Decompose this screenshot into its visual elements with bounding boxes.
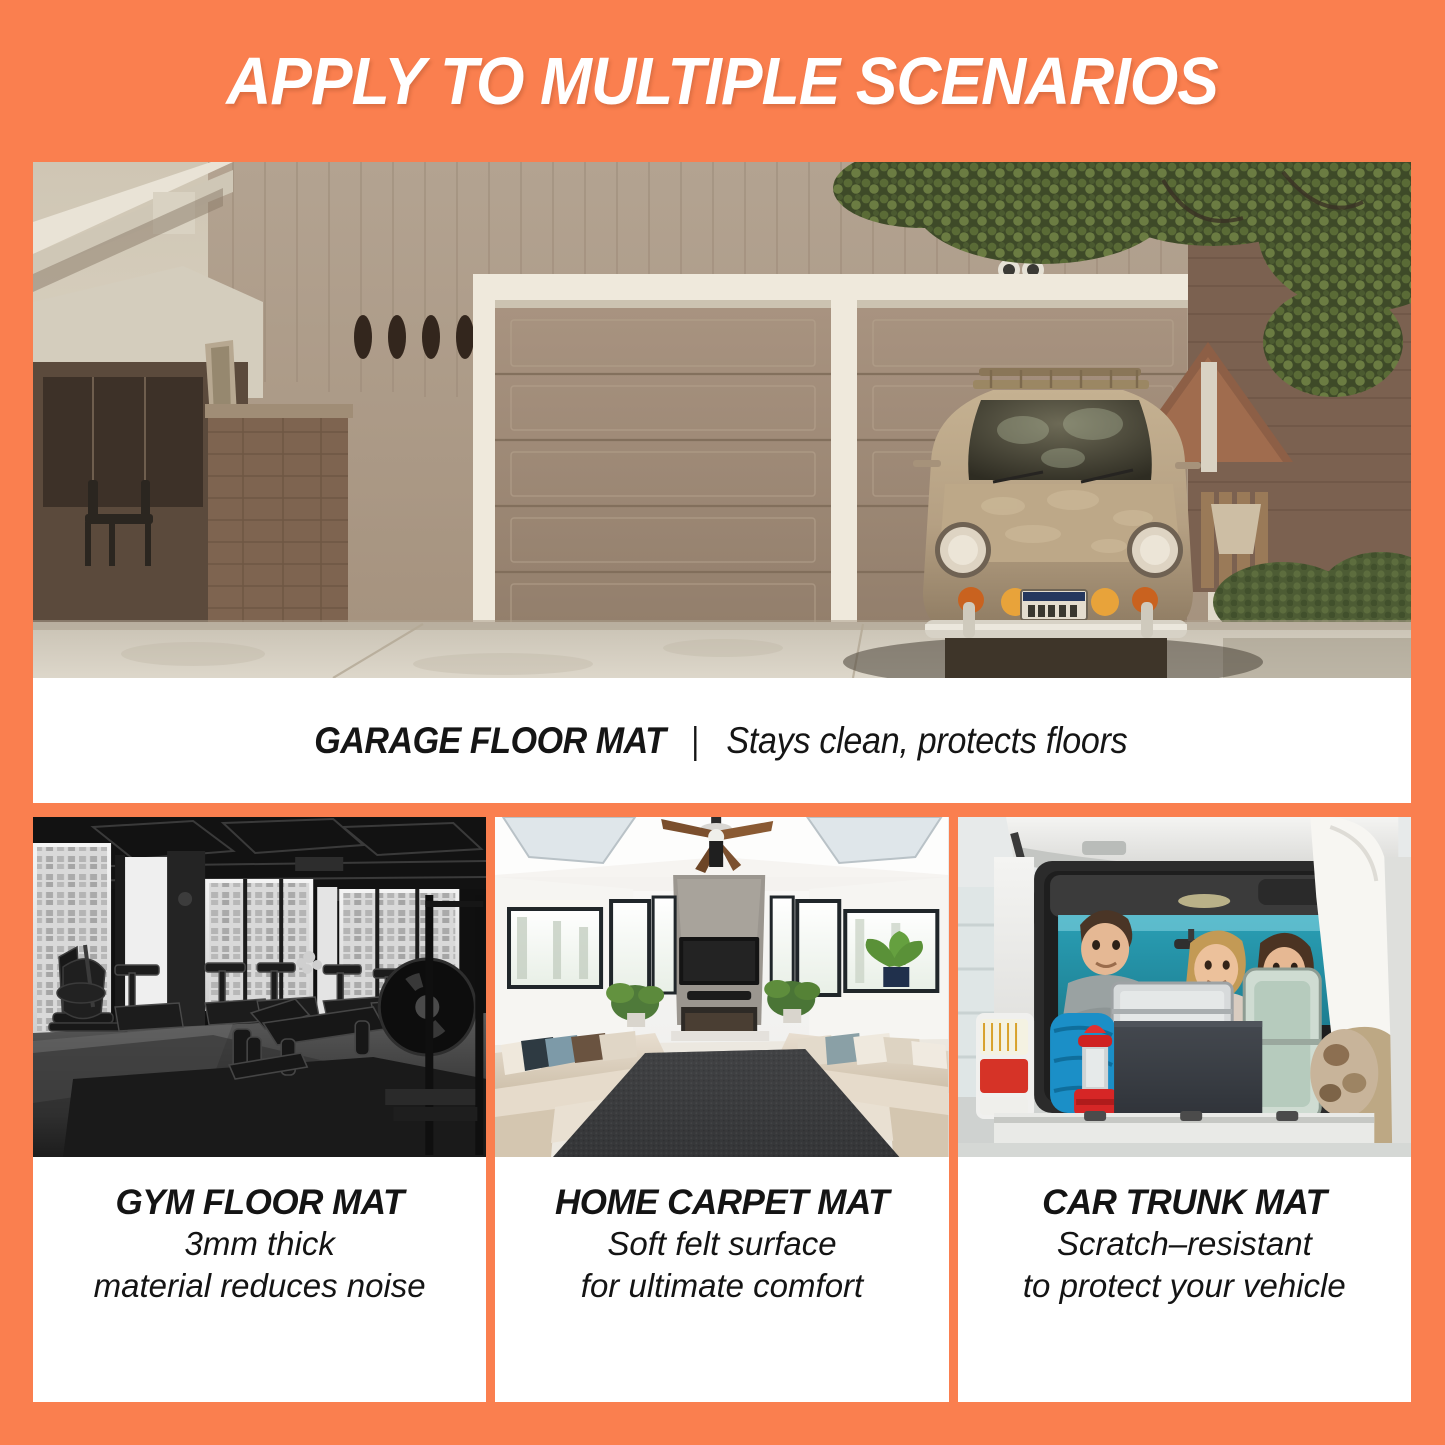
car-trunk-mat-product — [1114, 1021, 1262, 1117]
living-room-illustration — [495, 817, 948, 1157]
scenario-card-trunk: CAR TRUNK MAT Scratch–resistant to prote… — [958, 817, 1411, 1402]
gym-card-text: GYM FLOOR MAT 3mm thick material reduces… — [33, 1157, 486, 1402]
gym-card-line2: material reduces noise — [43, 1266, 476, 1306]
hero-caption-subtitle: Stays clean, protects floors — [726, 720, 1127, 762]
floral-bundle — [1310, 1029, 1378, 1117]
gym-card-title: GYM FLOOR MAT — [43, 1183, 476, 1222]
car-trunk-illustration — [958, 817, 1411, 1157]
trunk-card-line2: to protect your vehicle — [968, 1266, 1401, 1306]
garage-door-left — [495, 308, 831, 638]
home-card-title: HOME CARPET MAT — [505, 1183, 938, 1222]
garage-scene-photo — [33, 162, 1411, 678]
gym-card-line1: 3mm thick — [43, 1224, 476, 1264]
garage-scene-illustration — [33, 162, 1411, 678]
page-title: APPLY TO MULTIPLE SCENARIOS — [227, 43, 1219, 120]
hero-caption-text: GARAGE FLOOR MAT|Stays clean, protects f… — [299, 720, 1144, 762]
car-trunk-scene-photo — [958, 817, 1411, 1157]
gym-scene-photo — [33, 817, 486, 1157]
gym-scene-illustration — [33, 817, 486, 1157]
home-card-line2: for ultimate comfort — [505, 1266, 938, 1306]
license-plate — [1021, 590, 1087, 620]
scenario-card-row: GYM FLOOR MAT 3mm thick material reduces… — [33, 817, 1411, 1402]
scenario-card-home: HOME CARPET MAT Soft felt surface for ul… — [495, 817, 948, 1402]
trunk-card-title: CAR TRUNK MAT — [968, 1183, 1401, 1222]
home-card-line1: Soft felt surface — [505, 1224, 938, 1264]
hero-caption-title: GARAGE FLOOR MAT — [315, 720, 666, 762]
header-banner: APPLY TO MULTIPLE SCENARIOS — [0, 0, 1445, 162]
living-room-scene-photo — [495, 817, 948, 1157]
hero-caption-separator: | — [684, 720, 706, 762]
hero-caption-bar: GARAGE FLOOR MAT|Stays clean, protects f… — [33, 678, 1411, 803]
trunk-card-line1: Scratch–resistant — [968, 1224, 1401, 1264]
scenario-card-gym: GYM FLOOR MAT 3mm thick material reduces… — [33, 817, 486, 1402]
home-card-text: HOME CARPET MAT Soft felt surface for ul… — [495, 1157, 948, 1402]
trunk-card-text: CAR TRUNK MAT Scratch–resistant to prote… — [958, 1157, 1411, 1402]
tail-light — [976, 1013, 1034, 1119]
